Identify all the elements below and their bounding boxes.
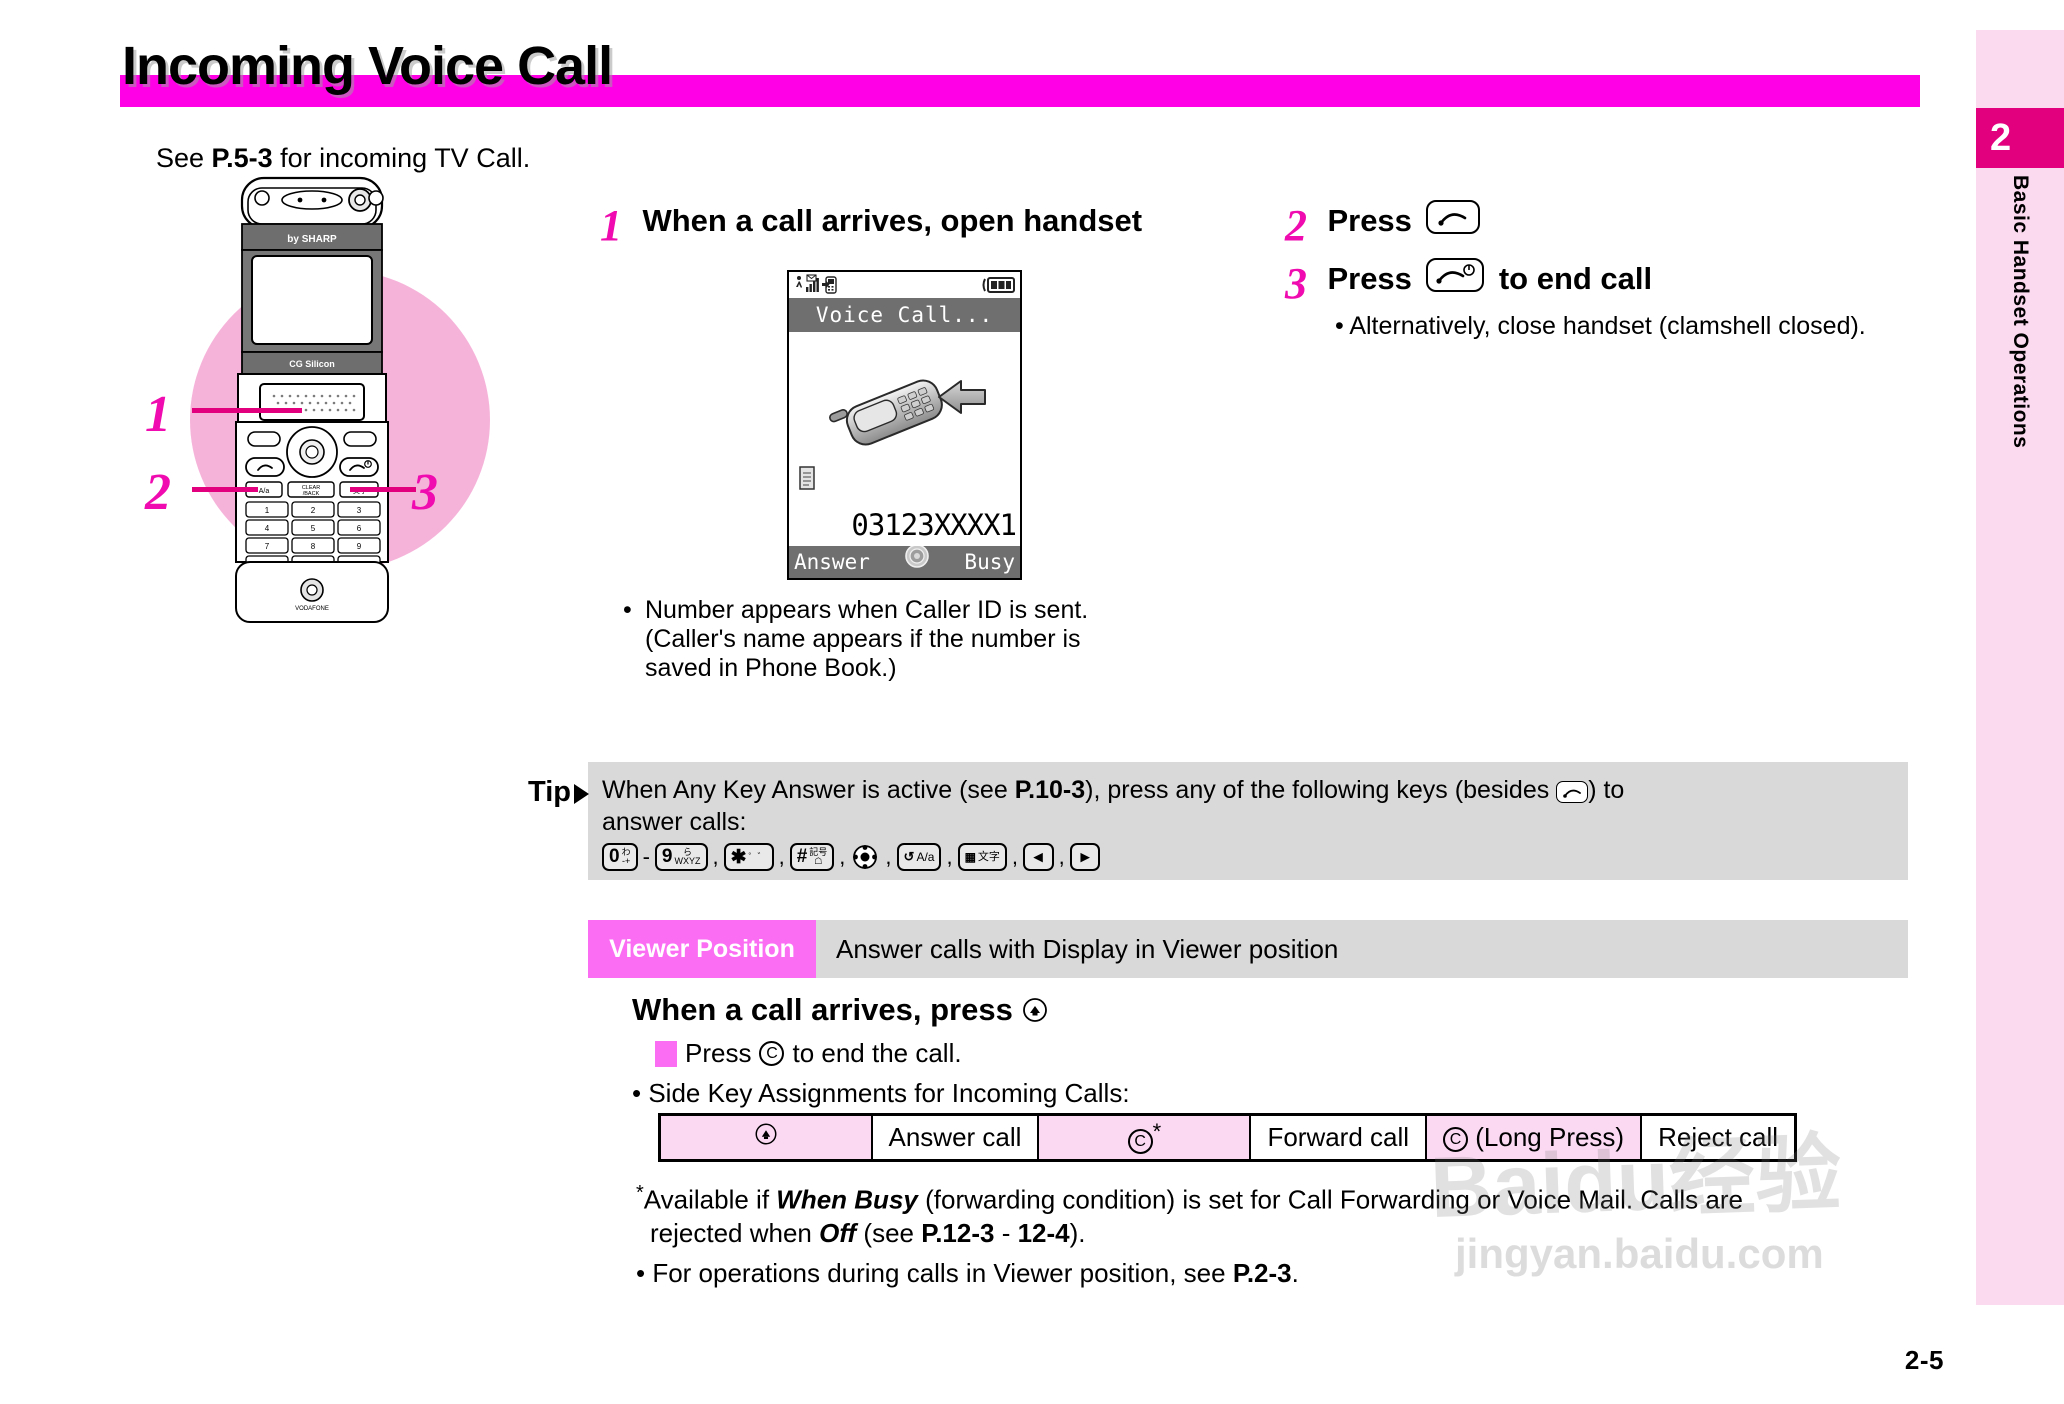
- footnote-line-1: *Available if When Busy (forwarding cond…: [636, 1180, 1896, 1217]
- battery-full-icon: [980, 276, 1016, 294]
- chapter-side-tab: 2 Basic Handset Operations: [1964, 0, 2064, 1404]
- sidekey-assignments-label: • Side Key Assignments for Incoming Call…: [632, 1078, 1130, 1109]
- key-hash: #記号☖: [790, 843, 835, 871]
- callout-number-2: 2: [145, 463, 171, 522]
- subtitle-reference[interactable]: P.5-3: [212, 143, 273, 173]
- footnote-star: *: [636, 1182, 644, 1204]
- key-shift-a-a: ↺A/a: [897, 843, 942, 871]
- key-right-arrow: ▸: [1070, 843, 1101, 871]
- page-title: Incoming Voice Call: [122, 35, 612, 97]
- bullet-marker: •: [623, 596, 632, 625]
- tip-box: Tip When Any Key Answer is active (see P…: [588, 762, 1908, 880]
- screen-note: • Number appears when Caller ID is sent.…: [645, 596, 1088, 682]
- sidekey-cell-clear-key-long: C (Long Press): [1426, 1115, 1641, 1161]
- footnote-b: (forwarding condition) is set for Call F…: [918, 1185, 1743, 1215]
- key-left-arrow: ◂: [1023, 843, 1054, 871]
- step-3: 3 Press to end call: [1285, 258, 1652, 309]
- side-key-icon: [753, 1121, 779, 1154]
- svg-text:/BACK: /BACK: [303, 491, 320, 497]
- callout-number-1: 1: [145, 385, 171, 444]
- table-row: Answer call C* Forward call C (Long Pres…: [660, 1115, 1796, 1161]
- viewer-heading: When a call arrives, press: [632, 992, 1049, 1032]
- key-navigation-pad: [850, 842, 880, 872]
- page-header: Incoming Voice Call: [0, 0, 1930, 120]
- viewer-subnote-prefix: Press: [685, 1038, 751, 1069]
- screen-status-bar: [789, 272, 1020, 298]
- screen-title-text: Voice Call...: [789, 298, 1020, 332]
- viewer-position-description: Answer calls with Display in Viewer posi…: [836, 920, 1338, 978]
- svg-text:1: 1: [265, 506, 270, 515]
- handset-screen-mockup: Voice Call...: [787, 270, 1022, 580]
- step-3-note: • Alternatively, close handset (clamshel…: [1335, 312, 1866, 341]
- callout-line-1: [192, 408, 302, 413]
- sidekey-assignments-table: Answer call C* Forward call C (Long Pres…: [658, 1113, 1797, 1162]
- footnote-line-2: rejected when Off (see P.12-3 - 12-4).: [636, 1217, 1896, 1251]
- svg-text:CG Silicon: CG Silicon: [289, 359, 335, 369]
- clear-key-icon: C: [1128, 1129, 1153, 1154]
- sidekey-cell-side-key: [660, 1115, 872, 1161]
- tip-label: Tip: [528, 776, 571, 809]
- svg-text:3: 3: [357, 506, 362, 515]
- step-2-number: 2: [1285, 200, 1307, 251]
- tip-line2: answer calls:: [602, 806, 1897, 838]
- footnote-f: ).: [1070, 1218, 1086, 1248]
- send-key-icon: [1426, 200, 1480, 234]
- tip-line1-b: ), press any of the following keys (besi…: [1085, 776, 1556, 804]
- footnote-block: *Available if When Busy (forwarding cond…: [636, 1180, 1896, 1291]
- screen-body: 03123XXXX1: [789, 332, 1020, 546]
- footnote-ref-p12-3[interactable]: P.12-3: [921, 1218, 994, 1248]
- step-3-number: 3: [1285, 258, 1307, 309]
- key-range-dash: -: [641, 844, 652, 870]
- svg-text:2: 2: [311, 506, 316, 515]
- viewer-subnote-suffix: to end the call.: [792, 1038, 961, 1069]
- footnote-d: (see: [856, 1218, 921, 1248]
- tip-reference-p10-3[interactable]: P.10-3: [1015, 776, 1085, 804]
- step-3-text: Press: [1327, 258, 1411, 297]
- viewer-subnote: Press C to end the call.: [655, 1038, 962, 1069]
- footnote-bullet-line: • For operations during calls in Viewer …: [636, 1257, 1896, 1291]
- softkey-right-busy[interactable]: Busy: [964, 550, 1015, 574]
- screen-caller-number: 03123XXXX1: [851, 508, 1016, 542]
- svg-text:9: 9: [357, 542, 362, 551]
- clear-key-icon: C: [759, 1041, 784, 1066]
- sidekey-value-reject-call: Reject call: [1641, 1115, 1795, 1161]
- viewer-position-tag: Viewer Position: [588, 920, 816, 978]
- step-3-text-after: to end call: [1499, 258, 1652, 297]
- footnote-ref-12-4[interactable]: 12-4: [1018, 1218, 1070, 1248]
- screen-note-line-2: (Caller's name appears if the number is: [645, 625, 1088, 654]
- svg-text:A/a: A/a: [259, 488, 270, 495]
- screen-note-line-3: saved in Phone Book.): [645, 654, 1088, 683]
- callout-number-3: 3: [412, 463, 438, 522]
- chapter-title-text: Basic Handset Operations: [2008, 175, 2032, 448]
- sidekey-cell-clear-key: C*: [1038, 1115, 1250, 1161]
- tip-line1-c: ) to: [1588, 776, 1624, 804]
- footnote-c: rejected when: [650, 1218, 819, 1248]
- chapter-title-vertical: Basic Handset Operations: [1976, 175, 2064, 875]
- footnote-ref-p2-3[interactable]: P.2-3: [1233, 1258, 1292, 1288]
- viewer-position-bar: Viewer Position Answer calls with Displa…: [588, 920, 1908, 978]
- sidekey-value-answer-call: Answer call: [872, 1115, 1039, 1161]
- softkey-left-answer[interactable]: Answer: [794, 550, 870, 574]
- key-moji: ▦文字: [958, 843, 1007, 871]
- step-1: 1 When a call arrives, open handset: [600, 200, 1142, 251]
- subtitle-suffix: for incoming TV Call.: [273, 143, 531, 173]
- key-9: 9らWXYZ: [655, 843, 708, 871]
- memo-icon: [797, 464, 819, 492]
- send-key-icon: [1556, 781, 1588, 803]
- tip-key-list: 0わ‐+ - 9らWXYZ , ✱゜゛ , #記号☖ , , ↺A/a , ▦文…: [602, 842, 1100, 872]
- step-1-text: When a call arrives, open handset: [642, 200, 1142, 239]
- tip-line1-a: When Any Key Answer is active (see: [602, 776, 1015, 804]
- subtitle-prefix: See: [156, 143, 212, 173]
- viewer-heading-text: When a call arrives, press: [632, 992, 1013, 1027]
- chapter-number-badge: 2: [1976, 108, 2064, 168]
- screen-note-line-1: Number appears when Caller ID is sent.: [645, 596, 1088, 625]
- incoming-call-phone-icon: [817, 364, 992, 469]
- callout-line-2: [192, 487, 258, 492]
- side-camera-key-icon: [1021, 996, 1049, 1032]
- key-0: 0わ‐+: [602, 843, 638, 871]
- clear-key-long-icon: C: [1443, 1127, 1468, 1152]
- pink-square-marker: [655, 1041, 677, 1067]
- svg-text:4: 4: [265, 524, 270, 533]
- footnote-bullet: • For operations during calls in Viewer …: [636, 1258, 1233, 1288]
- handset-illustration: by SHARP CG Silicon: [150, 195, 610, 695]
- tip-text: When Any Key Answer is active (see P.10-…: [602, 774, 1897, 838]
- svg-text:5: 5: [311, 524, 316, 533]
- svg-text:6: 6: [357, 524, 362, 533]
- sidekey-value-forward-call: Forward call: [1250, 1115, 1426, 1161]
- callout-line-3: [350, 487, 416, 492]
- step-2-text: Press: [1327, 200, 1411, 239]
- step-1-number: 1: [600, 200, 622, 251]
- handset-drawing: by SHARP CG Silicon: [210, 170, 430, 670]
- step-2: 2 Press: [1285, 200, 1480, 251]
- svg-text:by SHARP: by SHARP: [287, 234, 337, 245]
- svg-text:VODAFONE: VODAFONE: [295, 606, 329, 612]
- end-key-icon: [1426, 258, 1484, 292]
- svg-text:8: 8: [311, 542, 316, 551]
- page-number: 2-5: [1905, 1345, 1944, 1376]
- footnote-a: Available if: [644, 1185, 777, 1215]
- status-icons: [793, 274, 863, 296]
- screen-softkey-bar: Answer Busy: [789, 546, 1020, 578]
- footnote-bold-when-busy: When Busy: [776, 1185, 918, 1215]
- key-asterisk: ✱゜゛: [724, 843, 774, 871]
- svg-text:7: 7: [265, 542, 270, 551]
- footnote-bullet-end: .: [1292, 1258, 1299, 1288]
- tip-arrow-icon: [571, 782, 593, 806]
- footnote-bold-off: Off: [819, 1218, 856, 1248]
- nav-center-key-icon[interactable]: [902, 542, 932, 570]
- footnote-e: -: [994, 1218, 1017, 1248]
